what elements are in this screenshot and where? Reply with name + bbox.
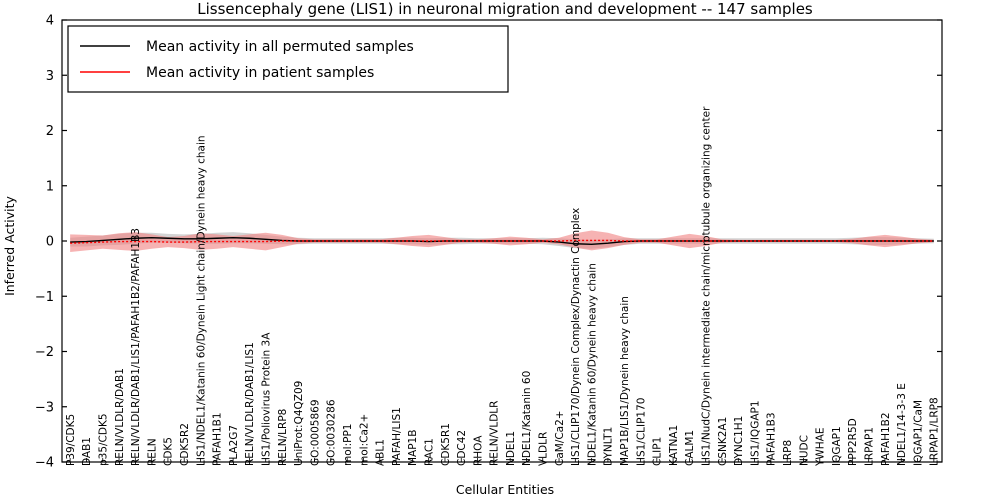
y-tick-label: 1 (46, 179, 54, 194)
x-tick-label: CDK5R2 (179, 423, 191, 466)
x-tick-label: P39/CDK5 (65, 414, 77, 466)
x-tick-label: LIS1/NudC/Dynein intermediate chain/micr… (701, 106, 713, 466)
x-tick-label: RELN/VLDLR/DAB1/LIS1/PAFAH1B2/PAFAH1B3 (130, 228, 142, 466)
x-tick-label: NDEL1 (505, 431, 517, 466)
x-tick-label: PLA2G7 (228, 425, 240, 466)
x-tick-label: RELN (146, 438, 158, 466)
x-tick-label: MAP1B/LIS1/Dynein heavy chain (619, 296, 631, 466)
x-tick-label: PPP2R5D (847, 418, 859, 466)
y-tick-label: −3 (35, 400, 54, 415)
x-tick-label: DYNLT1 (603, 427, 615, 466)
x-tick-label: NDEL1/Katanin 60/Dynein heavy chain (586, 263, 598, 466)
x-tick-label: CLIP1 (652, 437, 664, 466)
x-tick-label: DYNC1H1 (733, 416, 745, 466)
x-tick-label: RELN/VLDLR/DAB1/LIS1 (244, 342, 256, 466)
x-tick-label: IQGAP1/CaM (912, 400, 924, 466)
y-axis-label: Inferred Activity (2, 195, 17, 295)
x-tick-label: CDK5 (163, 437, 175, 466)
x-tick-label: LIS1/CLIP170/Dynein Complex/Dynactin Com… (570, 208, 582, 466)
x-tick-label: RELN/LRP8 (277, 409, 289, 466)
y-tick-label: −2 (35, 345, 54, 360)
x-tick-label: NDEL1/14-3-3 E (896, 383, 908, 466)
x-tick-label: ABL1 (375, 439, 387, 466)
chart-canvas: Lissencephaly gene (LIS1) in neuronal mi… (0, 0, 1000, 500)
x-tick-label: CSNK2A1 (717, 417, 729, 466)
x-tick-label: RAC1 (423, 438, 435, 466)
x-tick-label: DAB1 (81, 437, 93, 466)
y-tick-label: 4 (46, 14, 54, 29)
x-tick-label: mol:Ca2+ (358, 414, 370, 466)
x-tick-label: LRP8 (782, 440, 794, 466)
x-axis-label: Cellular Entities (456, 482, 554, 497)
x-tick-label: GO:0030286 (326, 399, 338, 466)
x-tick-label: PAFAH1B1 (212, 412, 224, 466)
y-tick-label: −4 (35, 456, 54, 471)
x-tick-label: LIS1/IQGAP1 (749, 400, 761, 466)
x-tick-label: MAP1B (407, 430, 419, 466)
y-tick-label: 0 (46, 235, 54, 250)
x-tick-label: CALM1 (684, 430, 696, 466)
x-tick-label: LRPAP1 (863, 427, 875, 466)
x-tick-label: IQGAP1 (831, 426, 843, 466)
y-tick-label: 2 (46, 124, 54, 139)
x-tick-label: CDK5R1 (440, 423, 452, 466)
x-tick-label: RHOA (472, 435, 484, 466)
x-tick-label: NDEL1/Katanin 60 (521, 371, 533, 466)
legend-label: Mean activity in patient samples (146, 65, 374, 81)
x-tick-label: LIS1/CLIP170 (635, 398, 647, 466)
x-tick-label: GO:0005869 (309, 399, 321, 466)
x-tick-label: p35/CDK5 (98, 413, 110, 466)
y-tick-label: −1 (35, 290, 54, 305)
x-tick-label: PAFAH/LIS1 (391, 407, 403, 466)
x-tick-label: PAFAH1B3 (766, 412, 778, 466)
chart-legend: Mean activity in all permuted samplesMea… (68, 26, 508, 92)
legend-label: Mean activity in all permuted samples (146, 39, 414, 55)
x-tick-label: YWHAE (815, 427, 827, 467)
x-tick-label: KATNA1 (668, 425, 680, 466)
x-tick-label: VLDLR (538, 432, 550, 466)
y-tick-label: 3 (46, 69, 54, 84)
x-tick-label: LRPAP1/LRP8 (929, 397, 941, 466)
x-tick-label: CDC42 (456, 430, 468, 466)
x-tick-label: NUDC (798, 435, 810, 466)
x-tick-label: LIS1/NDEL1/Katanin 60/Dynein Light chain… (195, 135, 207, 466)
x-tick-label: RELN/VLDLR (489, 401, 501, 466)
chart-title: Lissencephaly gene (LIS1) in neuronal mi… (197, 0, 813, 18)
x-tick-label: UniProt:Q4QZ09 (293, 381, 305, 466)
x-tick-label: LIS1/Poliovirus Protein 3A (261, 332, 273, 466)
x-tick-label: mol:PP1 (342, 424, 354, 466)
chart-figure: Lissencephaly gene (LIS1) in neuronal mi… (0, 0, 1000, 500)
legend-box (68, 26, 508, 92)
x-tick-label: PAFAH1B2 (880, 412, 892, 466)
x-tick-label: RELN/VLDLR/DAB1 (114, 368, 126, 466)
x-tick-label: CaM/Ca2+ (554, 410, 566, 466)
